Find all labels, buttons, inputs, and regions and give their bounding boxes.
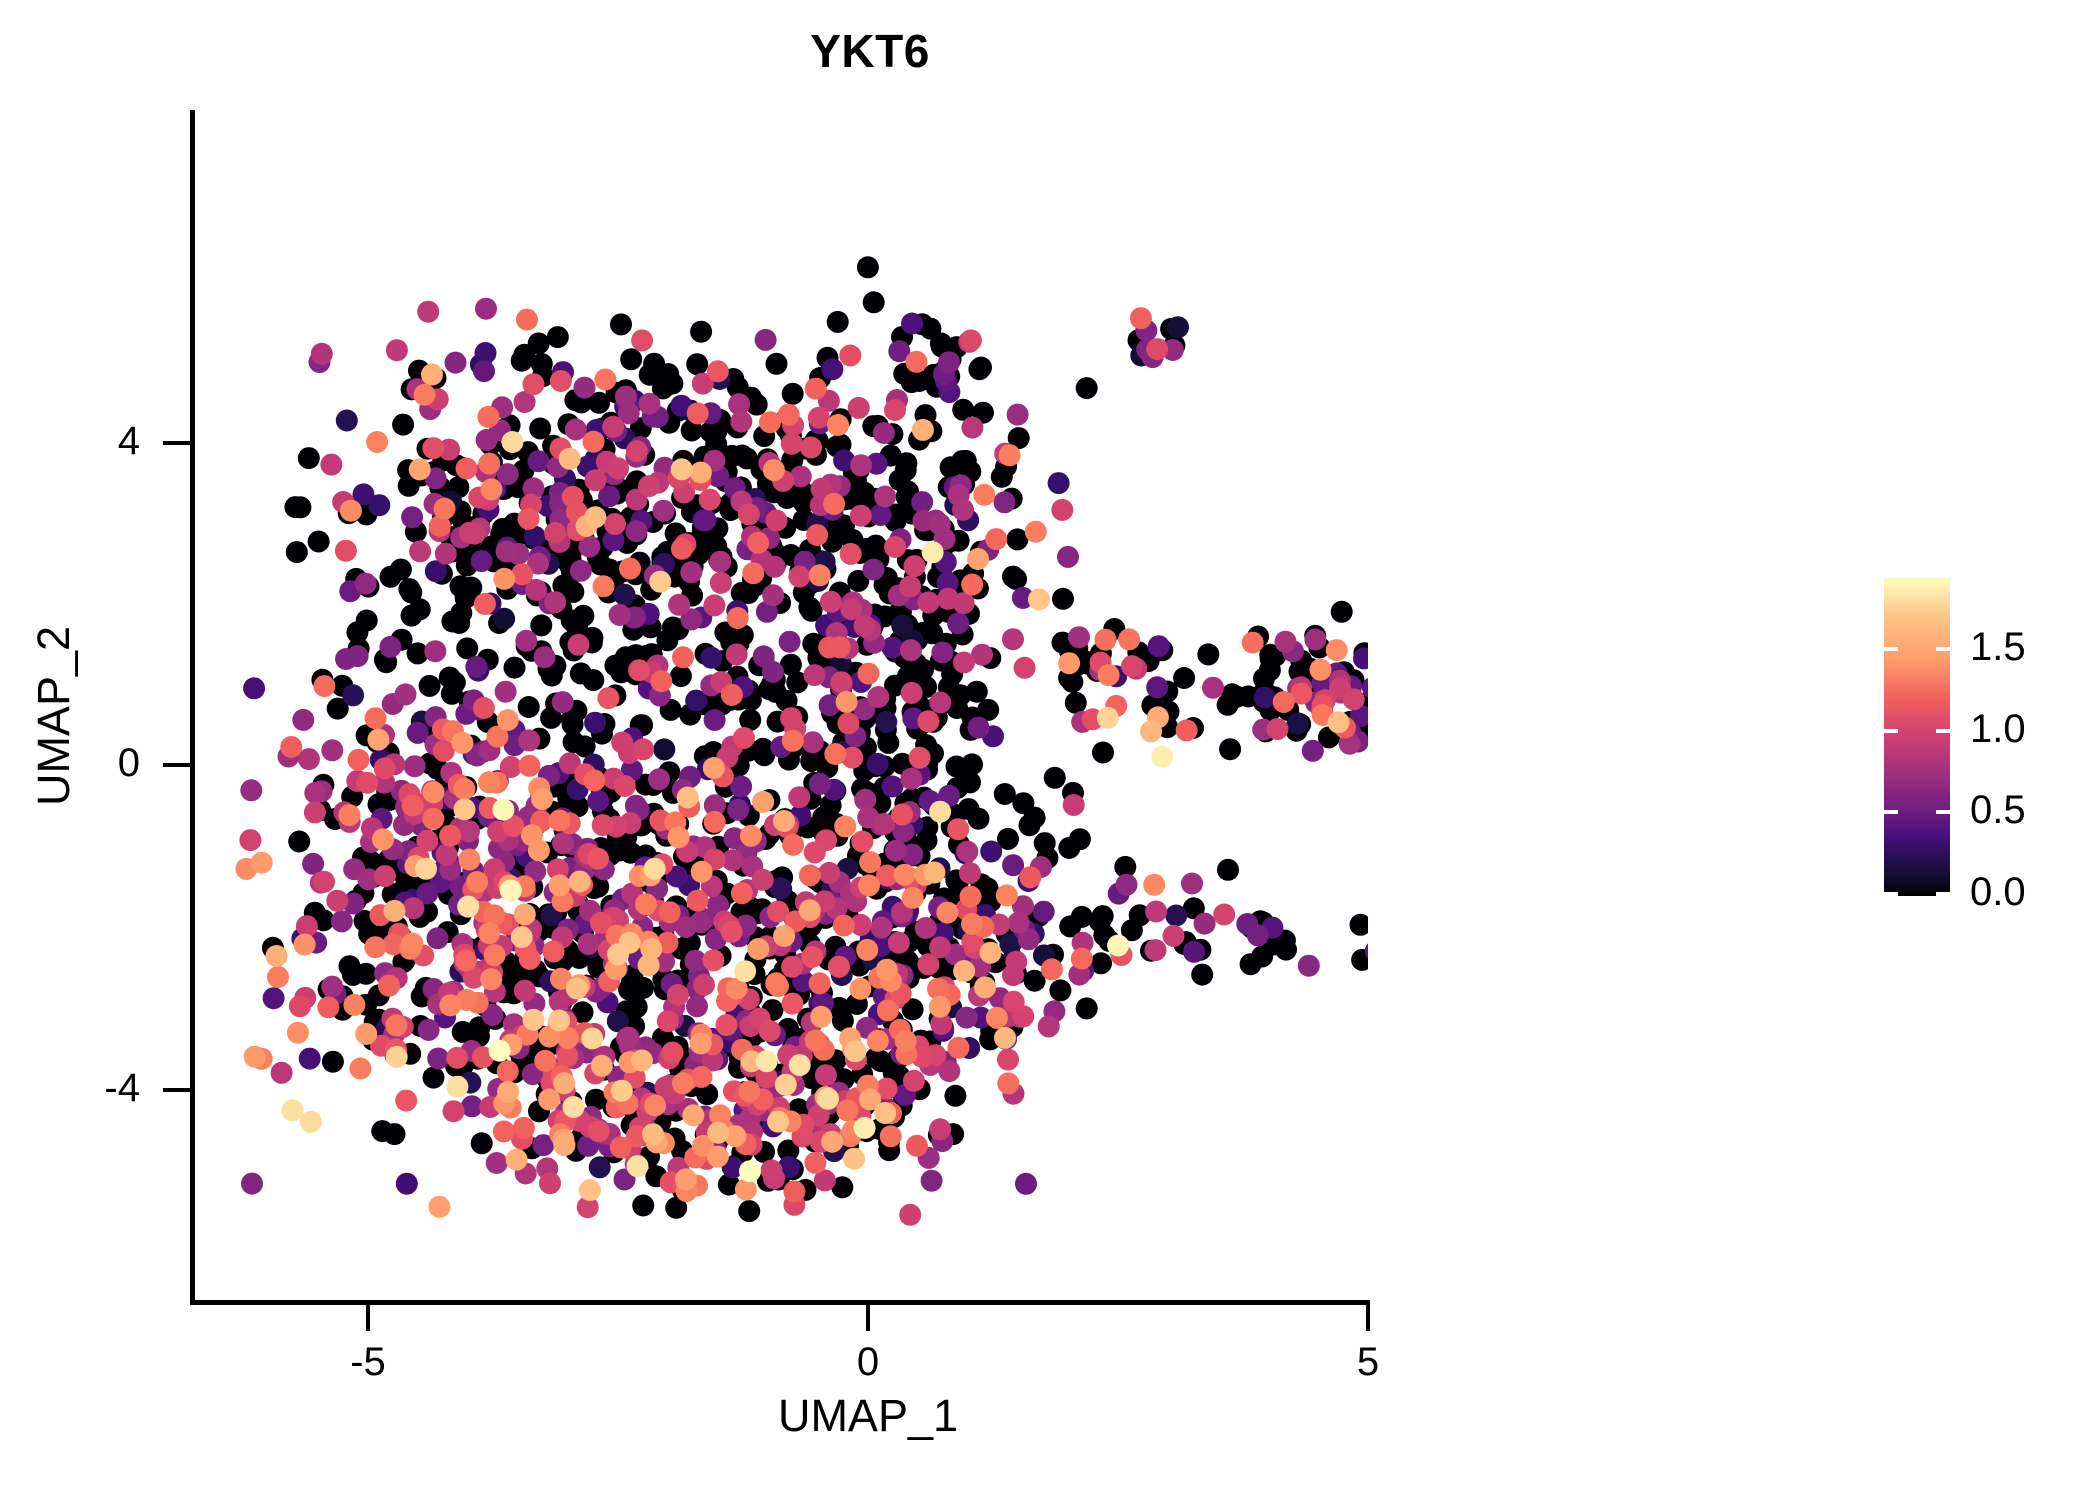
x-ticklabel-0: 0 [808, 1342, 928, 1382]
colorbar-tick-0.5-left [1884, 810, 1898, 814]
colorbar-tick-0.5-right [1936, 810, 1950, 814]
colorbar-tick-0.0-right [1936, 892, 1950, 896]
colorbar-label-0.0: 0.0 [1970, 872, 2026, 912]
y-tick-4 [163, 441, 190, 445]
colorbar-label-0.5: 0.5 [1970, 790, 2026, 830]
y-tick-0 [163, 763, 190, 767]
y-tick-minus4 [163, 1088, 190, 1092]
x-ticklabel-5: 5 [1308, 1342, 1428, 1382]
y-ticklabel-minus4: -4 [0, 1068, 140, 1108]
x-tick-0 [866, 1305, 870, 1331]
x-axis-label: UMAP_1 [608, 1390, 1128, 1442]
colorbar-label-1.0: 1.0 [1970, 709, 2026, 749]
colorbar-tick-1.0-left [1884, 729, 1898, 733]
x-tick-5 [1366, 1305, 1370, 1331]
colorbar-tick-1.5-right [1936, 647, 1950, 651]
x-ticklabel-minus5: -5 [308, 1342, 428, 1382]
x-tick-minus5 [366, 1305, 370, 1331]
figure-root: YKT6 4 0 -4 -5 0 5 UMAP_1 UMAP_2 1.5 1.0… [0, 0, 2100, 1500]
colorbar-tick-1.5-left [1884, 647, 1898, 651]
colorbar-gradient [1884, 578, 1950, 896]
colorbar-tick-0.0-left [1884, 892, 1898, 896]
colorbar-tick-1.0-right [1936, 729, 1950, 733]
scatter-points-layer [193, 110, 1368, 1302]
page-title: YKT6 [0, 24, 1740, 78]
colorbar-label-1.5: 1.5 [1970, 627, 2026, 667]
y-axis-label: UMAP_2 [28, 456, 80, 976]
colorbar-legend[interactable]: 1.5 1.0 0.5 0.0 [1884, 578, 1950, 896]
y-ticklabel-4: 4 [0, 421, 140, 461]
